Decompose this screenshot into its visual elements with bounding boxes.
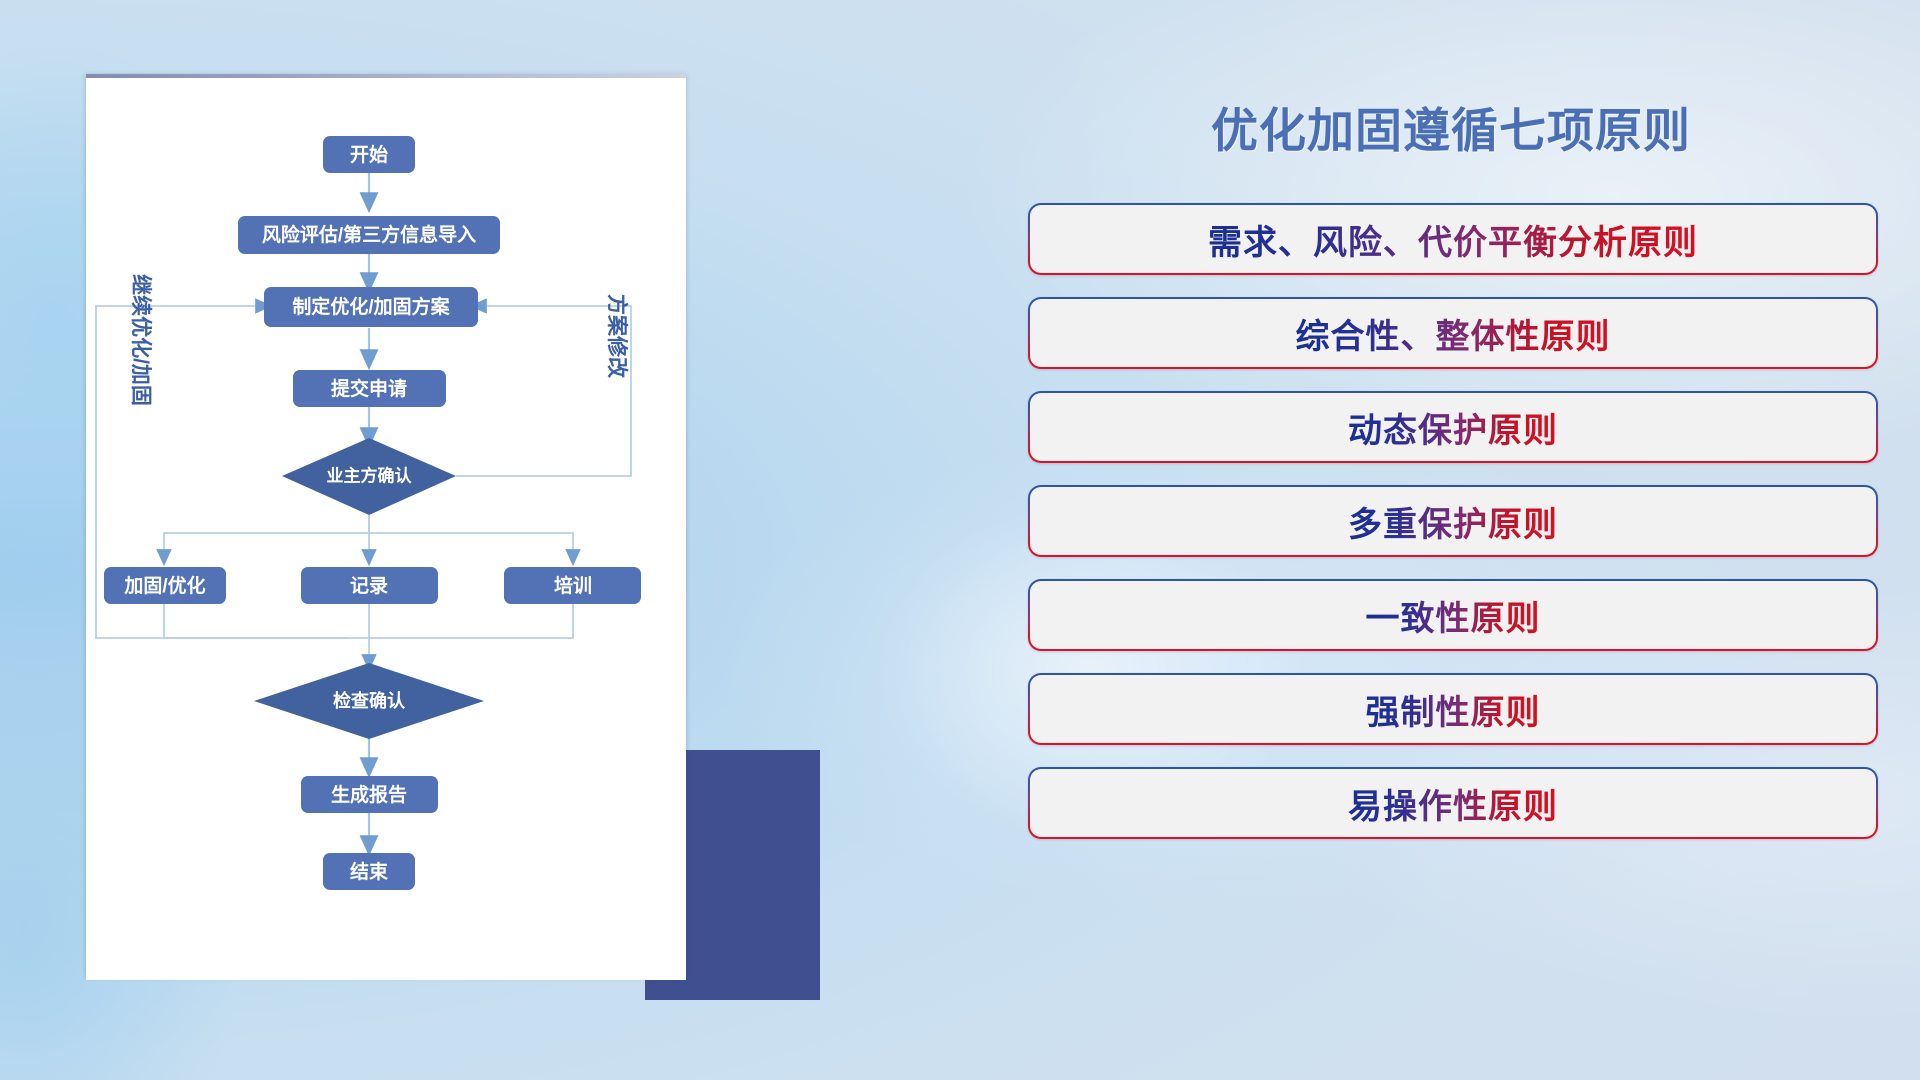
principle-item-2[interactable]: 综合性、整体性原则 bbox=[1028, 297, 1878, 369]
principles-list: 需求、风险、代价平衡分析原则 综合性、整体性原则 动态保护原则 多重保护原则 一… bbox=[1020, 203, 1900, 839]
flow-node-check-confirm[interactable]: 检查确认 bbox=[254, 663, 484, 739]
flow-node-reinforce-label: 加固/优化 bbox=[123, 574, 205, 597]
flow-node-record-label: 记录 bbox=[350, 575, 388, 597]
principle-item-1-label: 需求、风险、代价平衡分析原则 bbox=[1208, 215, 1698, 264]
principle-item-2-surface: 综合性、整体性原则 bbox=[1030, 299, 1876, 367]
flow-node-start[interactable]: 开始 bbox=[323, 136, 415, 173]
principle-item-6-label: 强制性原则 bbox=[1366, 685, 1541, 734]
flow-node-check-confirm-label: 检查确认 bbox=[333, 690, 406, 711]
flowchart-card: 开始 风险评估/第三方信息导入 制定优化/加固方案 提交申请 业主方确认 加固/… bbox=[86, 78, 686, 980]
principles-title: 优化加固遵循七项原则 bbox=[1002, 92, 1900, 161]
flowchart-diagram: 开始 风险评估/第三方信息导入 制定优化/加固方案 提交申请 业主方确认 加固/… bbox=[86, 78, 686, 980]
flow-node-submit[interactable]: 提交申请 bbox=[293, 370, 446, 407]
principle-item-3-surface: 动态保护原则 bbox=[1030, 393, 1876, 461]
edge-loop-revise bbox=[456, 306, 631, 476]
flow-node-owner-confirm[interactable]: 业主方确认 bbox=[282, 438, 456, 515]
principle-item-5-surface: 一致性原则 bbox=[1030, 581, 1876, 649]
edge-owner-training bbox=[369, 533, 573, 558]
principles-panel: 优化加固遵循七项原则 需求、风险、代价平衡分析原则 综合性、整体性原则 动态保护… bbox=[1020, 92, 1900, 992]
flow-node-record[interactable]: 记录 bbox=[301, 567, 438, 604]
flow-node-reinforce[interactable]: 加固/优化 bbox=[104, 567, 226, 604]
flow-node-report-label: 生成报告 bbox=[331, 783, 407, 806]
principle-item-5[interactable]: 一致性原则 bbox=[1028, 579, 1878, 651]
principle-item-7-surface: 易操作性原则 bbox=[1030, 769, 1876, 837]
edge-reinforce-check bbox=[164, 603, 369, 638]
principle-item-1[interactable]: 需求、风险、代价平衡分析原则 bbox=[1028, 203, 1878, 275]
principle-item-7[interactable]: 易操作性原则 bbox=[1028, 767, 1878, 839]
principle-item-2-label: 综合性、整体性原则 bbox=[1296, 309, 1611, 358]
principle-item-4-label: 多重保护原则 bbox=[1348, 497, 1558, 546]
principle-item-6[interactable]: 强制性原则 bbox=[1028, 673, 1878, 745]
flow-node-plan-label: 制定优化/加固方案 bbox=[292, 295, 450, 318]
principle-item-5-label: 一致性原则 bbox=[1366, 591, 1541, 640]
flow-node-risk-assessment[interactable]: 风险评估/第三方信息导入 bbox=[238, 216, 500, 254]
edge-training-check bbox=[369, 603, 573, 638]
flow-node-submit-label: 提交申请 bbox=[331, 377, 407, 400]
principle-item-1-surface: 需求、风险、代价平衡分析原则 bbox=[1030, 205, 1876, 273]
flow-node-plan[interactable]: 制定优化/加固方案 bbox=[264, 287, 478, 327]
principle-item-7-label: 易操作性原则 bbox=[1348, 779, 1558, 828]
edge-label-plan-revision: 方案修改 bbox=[605, 294, 629, 379]
edge-label-continue-optimize: 继续优化/加固 bbox=[129, 274, 153, 406]
principle-item-4-surface: 多重保护原则 bbox=[1030, 487, 1876, 555]
flow-node-risk-assessment-label: 风险评估/第三方信息导入 bbox=[262, 223, 476, 246]
flow-node-end[interactable]: 结束 bbox=[323, 853, 415, 890]
flow-node-report[interactable]: 生成报告 bbox=[301, 776, 438, 813]
principle-item-6-surface: 强制性原则 bbox=[1030, 675, 1876, 743]
flow-node-end-label: 结束 bbox=[350, 860, 389, 883]
principle-item-3[interactable]: 动态保护原则 bbox=[1028, 391, 1878, 463]
flow-node-training[interactable]: 培训 bbox=[504, 567, 641, 604]
principle-item-3-label: 动态保护原则 bbox=[1348, 403, 1558, 452]
edge-owner-reinforce bbox=[164, 515, 369, 558]
flow-node-owner-confirm-label: 业主方确认 bbox=[327, 465, 413, 485]
flow-node-training-label: 培训 bbox=[554, 574, 592, 597]
principle-item-4[interactable]: 多重保护原则 bbox=[1028, 485, 1878, 557]
flow-node-start-label: 开始 bbox=[350, 143, 388, 166]
